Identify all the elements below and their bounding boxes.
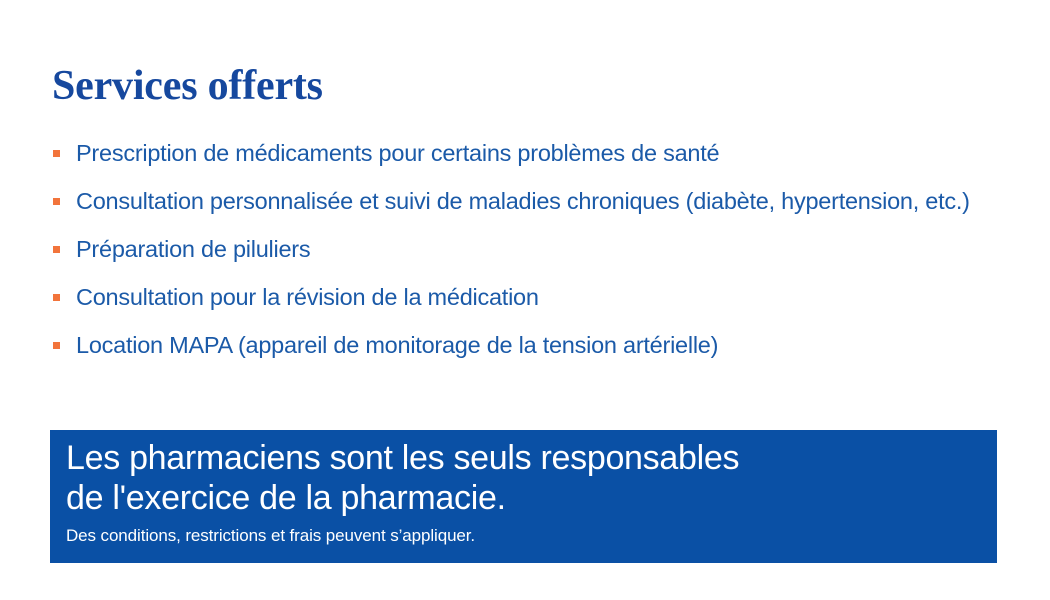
list-item-label: Consultation pour la révision de la médi… bbox=[76, 284, 539, 310]
notice-heading: Les pharmaciens sont les seuls responsab… bbox=[66, 438, 997, 518]
square-bullet-icon bbox=[53, 150, 60, 157]
list-item-label: Prescription de médicaments pour certain… bbox=[76, 140, 719, 166]
list-item: Location MAPA (appareil de monitorage de… bbox=[52, 332, 1037, 358]
notice-heading-line-1: Les pharmaciens sont les seuls responsab… bbox=[66, 438, 997, 478]
notice-banner: Les pharmaciens sont les seuls responsab… bbox=[50, 430, 997, 563]
list-item-label: Consultation personnalisée et suivi de m… bbox=[76, 188, 970, 214]
square-bullet-icon bbox=[53, 246, 60, 253]
slide-canvas: Services offerts Prescription de médicam… bbox=[0, 0, 1050, 600]
square-bullet-icon bbox=[53, 198, 60, 205]
list-item-label: Préparation de piluliers bbox=[76, 236, 310, 262]
notice-disclaimer: Des conditions, restrictions et frais pe… bbox=[66, 525, 997, 546]
list-item-label: Location MAPA (appareil de monitorage de… bbox=[76, 332, 718, 358]
list-item: Consultation personnalisée et suivi de m… bbox=[52, 188, 1037, 214]
page-title: Services offerts bbox=[52, 62, 323, 110]
list-item: Consultation pour la révision de la médi… bbox=[52, 284, 1037, 310]
notice-heading-line-2: de l'exercice de la pharmacie. bbox=[66, 478, 997, 518]
list-item: Prescription de médicaments pour certain… bbox=[52, 140, 1037, 166]
services-bullet-list: Prescription de médicaments pour certain… bbox=[52, 140, 1037, 380]
square-bullet-icon bbox=[53, 294, 60, 301]
square-bullet-icon bbox=[53, 342, 60, 349]
list-item: Préparation de piluliers bbox=[52, 236, 1037, 262]
